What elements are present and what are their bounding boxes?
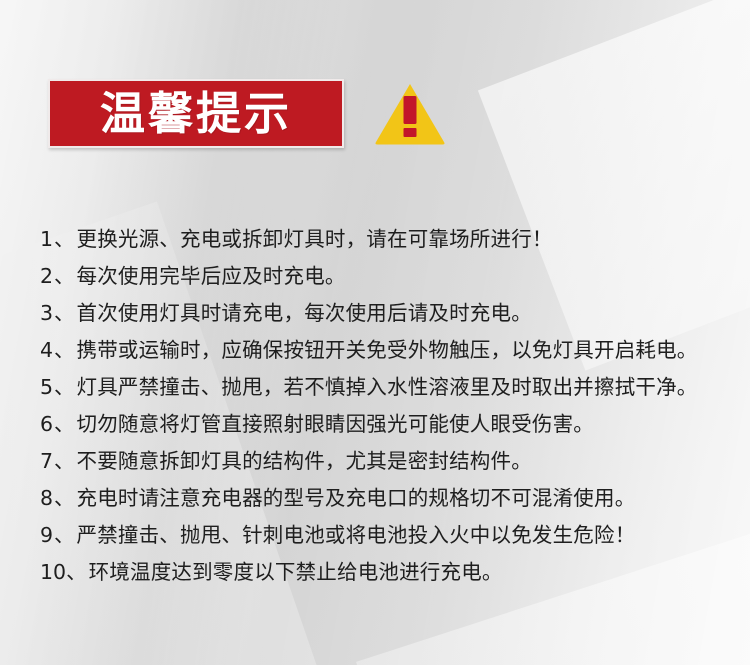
page-title: 温馨提示 (100, 91, 292, 136)
list-item-separator: 、 (54, 296, 77, 326)
list-item: 9 、 严禁撞击、抛甩、针刺电池或将电池投入火中以免发生危险！ (40, 518, 730, 555)
list-item-separator: 、 (54, 481, 77, 511)
list-item: 6 、 切勿随意将灯管直接照射眼睛因强光可能使人眼受伤害。 (40, 407, 730, 444)
list-item-text: 携带或运输时，应确保按钮开关免受外物触压，以免灯具开启耗电。 (77, 333, 698, 363)
list-item-text: 灯具严禁撞击、抛甩，若不慎掉入水性溶液里及时取出并擦拭干净。 (77, 370, 698, 400)
list-item-text: 每次使用完毕后应及时充电。 (77, 259, 346, 289)
notice-list: 1 、 更换光源、充电或拆卸灯具时，请在可靠场所进行！ 2 、 每次使用完毕后应… (40, 222, 730, 592)
list-item-separator: 、 (54, 370, 77, 400)
list-item-separator: 、 (66, 555, 89, 585)
list-item-text: 不要随意拆卸灯具的结构件，尤其是密封结构件。 (77, 444, 532, 474)
list-item-separator: 、 (54, 333, 77, 363)
list-item: 2 、 每次使用完毕后应及时充电。 (40, 259, 730, 296)
list-item-number: 1 (40, 227, 54, 251)
list-item-number: 8 (40, 486, 54, 510)
list-item-number: 9 (40, 523, 54, 547)
list-item-number: 4 (40, 338, 54, 362)
list-item-number: 2 (40, 264, 54, 288)
list-item-text: 切勿随意将灯管直接照射眼睛因强光可能使人眼受伤害。 (77, 407, 595, 437)
list-item: 8 、 充电时请注意充电器的型号及充电口的规格切不可混淆使用。 (40, 481, 730, 518)
list-item-text: 首次使用灯具时请充电，每次使用后请及时充电。 (77, 296, 532, 326)
list-item-number: 5 (40, 375, 54, 399)
list-item-text: 环境温度达到零度以下禁止给电池进行充电。 (89, 555, 503, 585)
list-item-separator: 、 (54, 407, 77, 437)
list-item-text: 充电时请注意充电器的型号及充电口的规格切不可混淆使用。 (77, 481, 636, 511)
list-item-number: 6 (40, 412, 54, 436)
list-item-text: 更换光源、充电或拆卸灯具时，请在可靠场所进行！ (77, 222, 553, 252)
list-item: 7 、 不要随意拆卸灯具的结构件，尤其是密封结构件。 (40, 444, 730, 481)
list-item: 1 、 更换光源、充电或拆卸灯具时，请在可靠场所进行！ (40, 222, 730, 259)
header: 温馨提示 (48, 79, 446, 148)
list-item-separator: 、 (54, 222, 77, 252)
list-item-number: 3 (40, 301, 54, 325)
list-item: 3 、 首次使用灯具时请充电，每次使用后请及时充电。 (40, 296, 730, 333)
list-item-separator: 、 (54, 518, 77, 548)
list-item-separator: 、 (54, 444, 77, 474)
list-item-separator: 、 (54, 259, 77, 289)
title-banner: 温馨提示 (48, 79, 344, 148)
warning-triangle-icon (374, 82, 446, 146)
list-item: 4 、 携带或运输时，应确保按钮开关免受外物触压，以免灯具开启耗电。 (40, 333, 730, 370)
list-item-number: 10 (40, 560, 66, 584)
notice-poster: 温馨提示 1 、 更换光源、充电或拆卸灯具时，请在可靠场所进行！ 2 、 每次使… (0, 0, 750, 665)
list-item: 5 、 灯具严禁撞击、抛甩，若不慎掉入水性溶液里及时取出并擦拭干净。 (40, 370, 730, 407)
list-item: 10 、 环境温度达到零度以下禁止给电池进行充电。 (40, 555, 730, 592)
list-item-number: 7 (40, 449, 54, 473)
list-item-text: 严禁撞击、抛甩、针刺电池或将电池投入火中以免发生危险！ (77, 518, 636, 548)
